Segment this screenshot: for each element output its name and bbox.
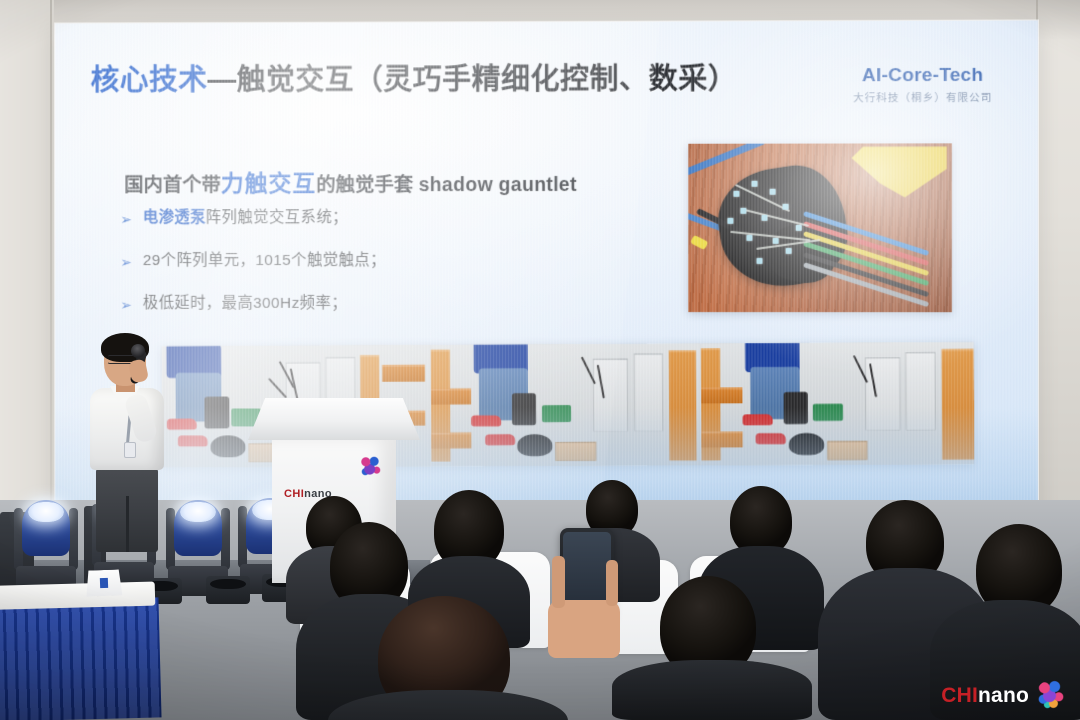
head-table-top — [0, 582, 155, 611]
subheading-prefix: 国内首个带 — [124, 174, 221, 196]
arrow-bullet-icon: ➢ — [120, 252, 132, 272]
arrow-bullet-icon: ➢ — [120, 295, 132, 315]
finger — [552, 556, 565, 608]
lab-cabinet — [633, 353, 663, 431]
robot-hand — [789, 433, 825, 455]
tactile-node — [751, 181, 757, 187]
chinano-watermark: CHInano — [941, 680, 1066, 710]
filmstrip-frame — [701, 342, 974, 466]
wooden-shelf-board — [702, 387, 743, 403]
floor-monitor — [206, 576, 250, 604]
wall-seam-left — [50, 0, 52, 520]
projection-screen: 核心技术—触觉交互（灵巧手精细化控制、数采） AI-Core-Tech 大行科技… — [55, 20, 1038, 528]
slide-title-dash: — — [207, 65, 236, 97]
green-container — [813, 404, 843, 421]
podium-lectern-top — [248, 398, 420, 440]
list-item: ➢ 电渗透泵阵列触觉交互系统； — [120, 208, 588, 228]
tactile-node — [796, 224, 802, 230]
audience-shoulders — [612, 660, 812, 720]
slide-title-main: 核心技术 — [91, 65, 208, 97]
podium-logo: CHInano — [284, 454, 388, 500]
watermark-text: CHInano — [941, 685, 1029, 706]
audience-hand — [548, 600, 620, 658]
wooden-shelf-board — [431, 432, 472, 448]
bullet-text: 极低延时，最高300Hz频率； — [143, 294, 347, 314]
bullet-highlight: 电渗透泵 — [143, 209, 206, 226]
green-container — [542, 405, 572, 422]
list-item: ➢ 29个阵列单元，1015个触觉触点； — [120, 251, 588, 271]
watermark-chi: CHI — [941, 684, 978, 707]
light-yoke — [221, 508, 230, 570]
tactile-node — [741, 208, 747, 214]
bullet-body: 29个阵列单元，1015个触觉触点； — [143, 252, 386, 269]
light-lens — [28, 502, 64, 522]
arrow-bullet-icon: ➢ — [120, 209, 132, 229]
office-chair — [783, 392, 808, 424]
demo-operator-shoe — [756, 433, 786, 444]
wooden-shelf — [941, 349, 974, 460]
robot-hand — [517, 434, 552, 456]
bullet-text: 29个阵列单元，1015个触觉触点； — [143, 251, 386, 271]
office-chair — [205, 397, 229, 429]
slide-subheading: 国内首个带力触交互的触觉手套 shadow gauntlet — [124, 164, 577, 198]
head-table-skirt — [0, 597, 162, 720]
tactile-node — [786, 248, 792, 254]
demo-operator-shoe — [485, 435, 515, 446]
presenter-leg-seam — [126, 496, 129, 552]
presentation-slide: 核心技术—触觉交互（灵巧手精细化控制、数采） AI-Core-Tech 大行科技… — [55, 20, 1038, 528]
brand-lockup: AI-Core-Tech 大行科技（桐乡）有限公司 — [832, 65, 1014, 106]
finger — [606, 560, 618, 606]
stage-light — [14, 500, 78, 596]
demo-operator-shoe — [471, 415, 501, 426]
lab-cabinet — [906, 352, 937, 431]
chinano-molecule-icon — [1036, 680, 1066, 710]
robot-hand — [210, 436, 245, 458]
brand-subtitle: 大行科技（桐乡）有限公司 — [832, 90, 1014, 105]
demo-operator-shoe — [742, 414, 772, 425]
bullet-body: 极低延时，最高300Hz频率； — [143, 295, 347, 312]
conference-stage-scene: 核心技术—触觉交互（灵巧手精细化控制、数采） AI-Core-Tech 大行科技… — [0, 0, 1080, 720]
name-card-mark — [100, 578, 108, 588]
wooden-shelf-board — [702, 431, 743, 447]
table-name-card — [86, 569, 123, 596]
slide-title: 核心技术—触觉交互（灵巧手精细化控制、数采） — [91, 55, 738, 99]
list-item: ➢ 极低延时，最高300Hz频率； — [120, 294, 588, 314]
tactile-node — [746, 235, 752, 241]
cardboard-box — [827, 440, 868, 460]
tactile-node — [762, 214, 768, 220]
office-chair — [512, 393, 537, 425]
wooden-shelf-board — [431, 388, 472, 404]
tactile-node — [733, 191, 739, 197]
watermark-nano: nano — [978, 684, 1029, 707]
filmstrip-frame — [430, 343, 702, 466]
bullet-body: 阵列触觉交互系统； — [206, 209, 348, 226]
subheading-highlight: 力触交互 — [221, 170, 316, 196]
light-yoke — [69, 508, 78, 570]
chinano-molecule-icon — [358, 454, 384, 480]
wall-left-panel — [0, 0, 54, 500]
subheading-english: shadow gauntlet — [419, 174, 577, 196]
tactile-node — [772, 238, 778, 244]
wooden-shelf-board — [382, 364, 425, 381]
podium-logo-chi: CHI — [284, 488, 304, 500]
tactile-node — [728, 218, 734, 224]
haptic-glove-photo — [688, 143, 952, 312]
subheading-middle: 的触觉手套 — [316, 174, 413, 196]
monitor-rim — [210, 579, 246, 589]
bullet-text: 电渗透泵阵列触觉交互系统； — [143, 208, 348, 228]
presenter-badge — [124, 442, 136, 458]
brand-name: AI-Core-Tech — [832, 65, 1014, 88]
wooden-shelf — [669, 351, 697, 461]
cardboard-box — [555, 442, 596, 462]
tactile-node — [757, 258, 763, 264]
slide-title-rest: 触觉交互（灵巧手精细化控制、数采） — [237, 63, 738, 96]
tactile-node — [783, 204, 789, 210]
tactile-node — [770, 189, 776, 195]
presenter — [78, 336, 188, 550]
bullet-list: ➢ 电渗透泵阵列触觉交互系统； ➢ 29个阵列单元，1015个触觉触点； ➢ 极… — [120, 208, 588, 337]
